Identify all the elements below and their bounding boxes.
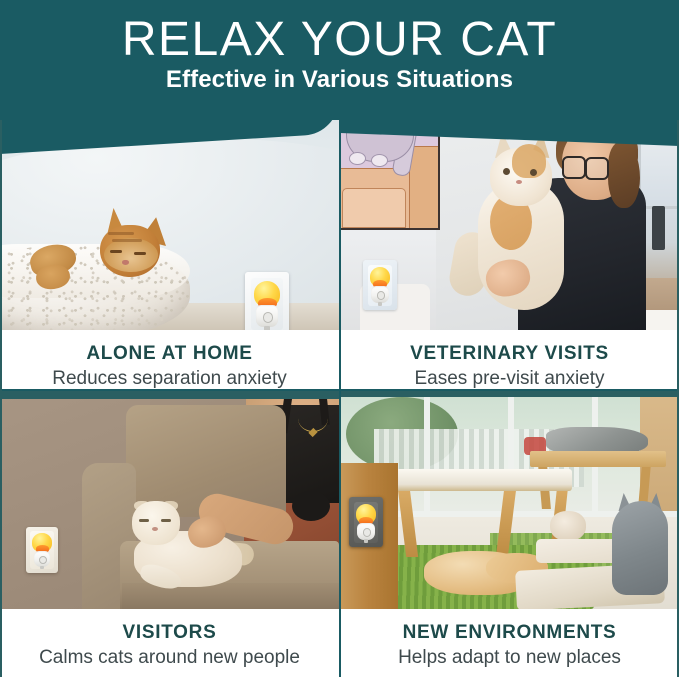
- header-banner: RELAX YOUR CAT Effective in Various Situ…: [0, 0, 679, 122]
- photo-alone-at-home: [0, 120, 339, 330]
- held-cat-nose: [516, 180, 522, 184]
- diffuser-prong: [40, 566, 44, 570]
- photo-new-environments: [340, 391, 679, 609]
- cat-illustration-poster: [340, 120, 440, 230]
- poster-cat-paw: [371, 154, 388, 167]
- caption-subtitle: Reduces separation anxiety: [0, 367, 339, 390]
- held-cat-head-marking: [512, 144, 546, 178]
- poster-seat: [342, 188, 406, 228]
- plug-in-diffuser-device: [349, 497, 383, 547]
- caption-title: VETERINARY VISITS: [340, 343, 679, 365]
- caption-subtitle: Helps adapt to new places: [340, 646, 679, 669]
- cat-eye-right: [134, 252, 146, 255]
- diffuser-prong: [364, 539, 368, 543]
- caption-subtitle: Calms cats around new people: [0, 646, 339, 669]
- caption-title: VISITORS: [0, 622, 339, 644]
- back-table-top: [530, 451, 666, 467]
- caption-block: ALONE AT HOME Reduces separation anxiety: [0, 330, 339, 390]
- cat-stripe: [112, 239, 142, 242]
- cat-eye-left: [110, 250, 122, 253]
- eyeglass-lens-left: [562, 156, 586, 179]
- caption-block: VETERINARY VISITS Eases pre-visit anxiet…: [340, 330, 679, 390]
- photo-visitors: [0, 391, 339, 609]
- cat-face: [104, 238, 158, 272]
- feature-panel-alone-at-home: ALONE AT HOME Reduces separation anxiety: [0, 120, 339, 390]
- plug-in-diffuser-device: [363, 260, 397, 310]
- diffuser-dial-icon: [263, 312, 274, 323]
- photo-veterinary-visits: [340, 120, 679, 330]
- caption-block: VISITORS Calms cats around new people: [0, 609, 339, 679]
- plug-in-diffuser-device: [26, 527, 58, 573]
- teal-top-edge: [0, 391, 339, 399]
- caption-title: NEW ENVIRONMENTS: [340, 622, 679, 644]
- top-knot-detail: [292, 491, 330, 521]
- held-cat-eye-left: [503, 168, 510, 175]
- front-table-top: [394, 469, 572, 491]
- left-border: [0, 120, 2, 679]
- teal-top-edge: [340, 391, 679, 397]
- eyeglass-lens-right: [585, 157, 609, 180]
- page-title: RELAX YOUR CAT: [0, 14, 679, 66]
- feature-panel-veterinary-visits: VETERINARY VISITS Eases pre-visit anxiet…: [340, 120, 679, 390]
- wall-fixture: [652, 206, 665, 250]
- window-frame: [424, 395, 430, 527]
- caption-block: NEW ENVIRONMENTS Helps adapt to new plac…: [340, 609, 679, 679]
- sofa-front-panel: [122, 583, 339, 609]
- cat-nose: [122, 260, 129, 265]
- sofa-cat-eye-left: [139, 519, 149, 522]
- feature-panel-visitors: VISITORS Calms cats around new people: [0, 391, 339, 679]
- plug-in-diffuser-device: [245, 272, 289, 330]
- diffuser-prong: [378, 302, 382, 306]
- horizontal-divider: [0, 389, 679, 391]
- gray-cat-sitting: [612, 501, 668, 595]
- eyeglasses-icon: [562, 156, 608, 176]
- sofa-cat-nose: [152, 527, 158, 531]
- small-white-cat: [550, 511, 586, 541]
- caption-title: ALONE AT HOME: [0, 343, 339, 365]
- vertical-divider: [339, 120, 341, 679]
- poster-cat-paw: [349, 152, 366, 165]
- product-feature-graphic: RELAX YOUR CAT Effective in Various Situ…: [0, 0, 679, 679]
- held-cat-eye-right: [530, 169, 537, 176]
- page-subtitle: Effective in Various Situations: [0, 66, 679, 94]
- diffuser-dial-icon: [39, 556, 47, 564]
- caption-subtitle: Eases pre-visit anxiety: [340, 367, 679, 390]
- sofa-cat-eye-right: [161, 519, 171, 522]
- cat-stripe: [108, 232, 134, 235]
- sofa-cat-head: [132, 501, 180, 545]
- feature-panel-new-environments: NEW ENVIRONMENTS Helps adapt to new plac…: [340, 391, 679, 679]
